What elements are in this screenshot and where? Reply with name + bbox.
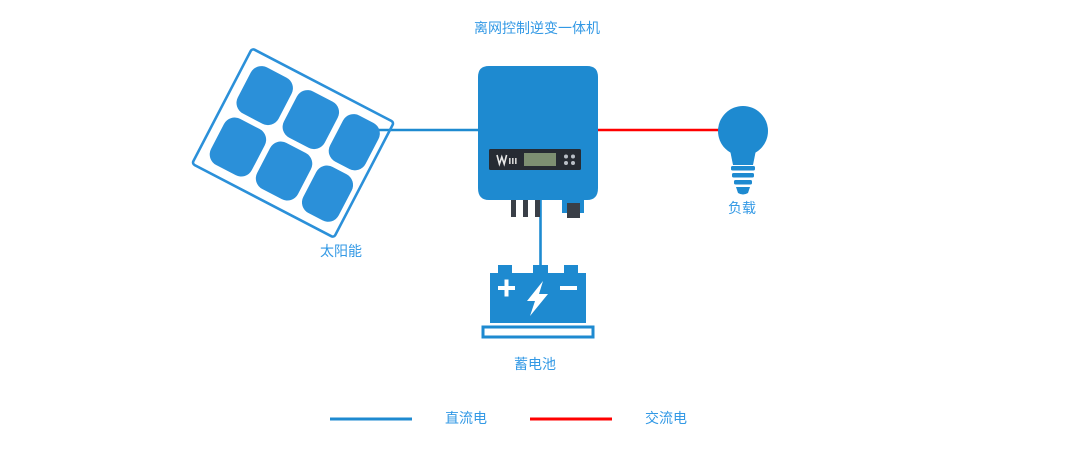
legend-ac-label: 交流电 <box>645 412 687 426</box>
load-label: 负载 <box>728 202 756 216</box>
light-bulb-icon <box>718 106 768 195</box>
battery-icon <box>483 265 593 337</box>
inverter-icon <box>478 66 598 218</box>
legend-dc-label: 直流电 <box>445 412 487 426</box>
battery-negative-terminal <box>560 286 577 290</box>
solar-panel-icon <box>192 48 394 237</box>
diagram-title: 离网控制逆变一体机 <box>474 22 600 36</box>
inverter-control-panel <box>489 149 581 170</box>
battery-label: 蓄电池 <box>514 358 556 372</box>
solar-panel-label: 太阳能 <box>320 245 362 259</box>
lcd-display <box>524 153 556 166</box>
diagram-canvas <box>0 0 1069 464</box>
system-diagram: 离网控制逆变一体机 太阳能 负载 蓄电池 直流电 交流电 <box>0 0 1069 464</box>
